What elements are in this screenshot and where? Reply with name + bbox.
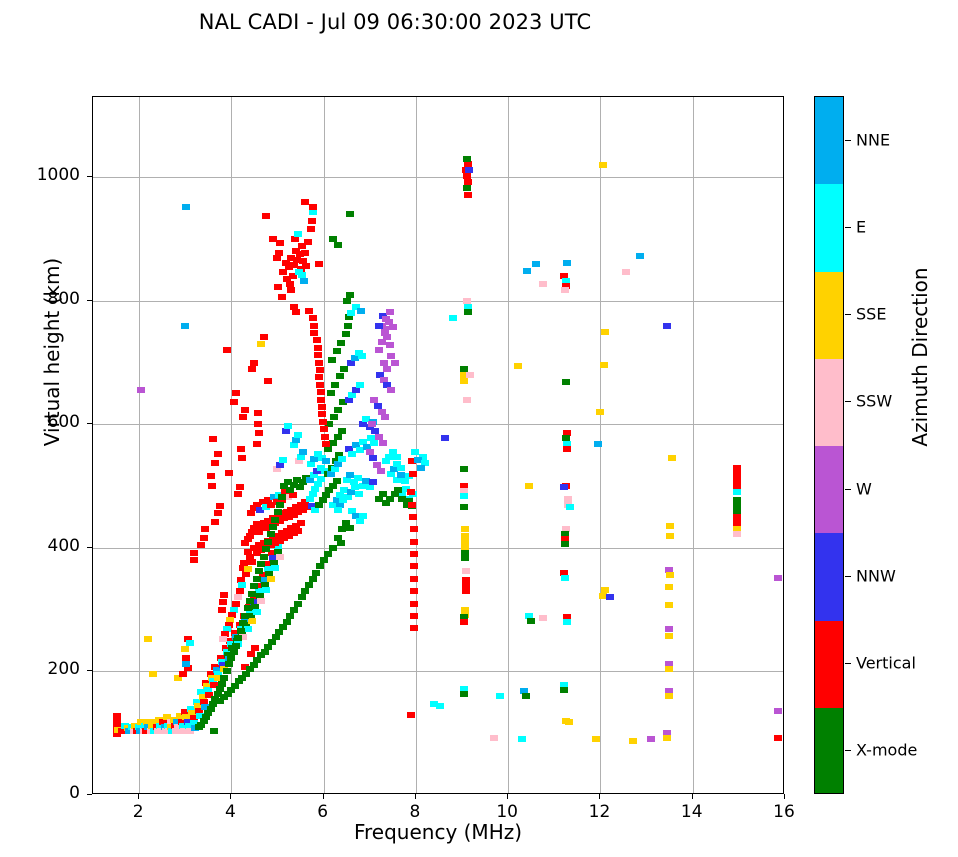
echo-marker [409,471,417,477]
echo-marker [300,278,308,284]
echo-marker [343,298,351,304]
echo-marker [239,414,247,420]
gridline-vertical [508,97,509,793]
echo-marker [386,496,394,502]
x-tick-label: 10 [477,802,537,822]
echo-marker [181,646,189,652]
echo-marker [200,535,208,541]
echo-marker [234,635,242,641]
echo-marker [315,360,323,366]
echo-marker [460,378,468,384]
x-axis-title: Frequency (MHz) [92,820,784,844]
x-tick-label: 6 [293,802,353,822]
echo-marker [380,360,388,366]
echo-marker [518,736,526,742]
colorbar-label-sse: SSE [856,305,886,324]
echo-marker [250,360,258,366]
colorbar-tick [845,750,851,751]
echo-marker [369,455,377,461]
echo-marker [449,315,457,321]
echo-marker [369,479,377,485]
gridline-horizontal [93,177,783,178]
echo-marker [393,454,401,460]
y-tick [87,794,92,795]
echo-marker [255,568,263,574]
echo-marker [322,458,330,464]
echo-marker [441,435,449,441]
colorbar[interactable] [814,96,844,794]
echo-marker [774,735,782,741]
echo-marker [182,661,190,667]
echo-marker [262,546,270,552]
echo-marker [354,475,362,481]
echo-marker [594,441,602,447]
echo-marker [225,661,233,667]
x-tick [507,794,508,799]
echo-marker [733,531,741,537]
echo-marker [267,576,275,582]
echo-marker [313,337,321,343]
colorbar-label-ssw: SSW [856,392,892,411]
echo-marker [465,167,473,173]
echo-marker [248,591,256,597]
echo-marker [398,496,406,502]
echo-marker [257,341,265,347]
echo-marker [560,687,568,693]
echo-marker [355,491,363,497]
echo-marker [647,736,655,742]
echo-marker [373,462,381,468]
echo-marker [382,316,390,322]
echo-marker [563,619,571,625]
echo-marker [665,602,673,608]
echo-marker [241,407,249,413]
ionogram-figure: NAL CADI - Jul 09 06:30:00 2023 UTC 2468… [0,0,958,857]
x-tick [230,794,231,799]
echo-marker [329,236,337,242]
echo-marker [596,409,604,415]
echo-marker [411,449,419,455]
plot-area[interactable] [92,96,784,794]
echo-marker [238,582,246,588]
echo-marker [328,357,336,363]
echo-marker [338,428,346,434]
echo-marker [255,430,263,436]
y-tick [87,300,92,301]
gridline-horizontal [93,424,783,425]
echo-marker [294,528,302,534]
echo-marker [301,250,309,256]
gridline-vertical [139,97,140,793]
echo-marker [294,601,302,607]
echo-marker [286,613,294,619]
echo-marker [317,397,325,403]
echo-marker [774,575,782,581]
echo-marker [294,231,302,237]
echo-marker [321,434,329,440]
echo-marker [539,281,547,287]
echo-marker [209,436,217,442]
echo-marker [246,598,254,604]
echo-marker [466,372,474,378]
colorbar-tick [845,401,851,402]
echo-marker [190,557,198,563]
echo-marker [218,607,226,613]
echo-marker [247,651,255,657]
echo-marker [241,613,249,619]
echo-marker [336,373,344,379]
echo-marker [733,477,741,483]
colorbar-segment-nnw[interactable] [815,533,843,620]
echo-marker [334,407,342,413]
echo-marker [223,347,231,353]
echo-marker [358,353,366,359]
colorbar-label-vertical: Vertical [856,654,916,673]
echo-marker [592,736,600,742]
echo-marker [562,379,570,385]
colorbar-label-x-mode: X-mode [856,741,917,760]
echo-marker [182,655,190,661]
x-tick-label: 2 [108,802,168,822]
echo-marker [464,309,472,315]
echo-marker [733,503,741,509]
echo-marker [337,540,345,546]
colorbar-label-nne: NNE [856,130,890,149]
gridline-vertical [416,97,417,793]
echo-marker [410,588,418,594]
echo-marker [190,550,198,556]
echo-marker [236,588,244,594]
echo-marker [309,204,317,210]
echo-marker [410,563,418,569]
echo-marker [284,423,292,429]
echo-marker [333,478,341,484]
echo-marker [237,446,245,452]
echo-marker [460,366,468,372]
echo-marker [410,551,418,557]
echo-marker [310,330,318,336]
colorbar-tick [845,663,851,664]
echo-marker [253,441,261,447]
y-tick [87,670,92,671]
echo-marker [287,287,295,293]
echo-marker [733,514,741,520]
echo-marker [309,576,317,582]
colorbar-tick [845,314,851,315]
echo-marker [274,284,282,290]
echo-marker [271,565,279,571]
x-tick [323,794,324,799]
echo-marker [334,507,342,513]
echo-marker [410,576,418,582]
echo-marker [248,366,256,372]
echo-marker [377,468,385,474]
echo-marker [257,561,265,567]
echo-marker [563,446,571,452]
echo-marker [629,738,637,744]
echo-marker [665,666,673,672]
echo-marker [320,557,328,563]
colorbar-tick [845,576,851,577]
echo-marker [407,712,415,718]
echo-marker [234,491,242,497]
echo-marker [260,334,268,340]
echo-marker [359,513,367,519]
echo-marker [318,411,326,417]
echo-marker [214,451,222,457]
echo-marker [299,449,307,455]
colorbar-segment-nne[interactable] [815,97,843,184]
echo-marker [490,735,498,741]
echo-marker [254,421,262,427]
echo-marker [320,426,328,432]
echo-marker [561,287,569,293]
echo-marker [370,440,378,446]
echo-marker [463,156,471,162]
echo-marker [665,633,673,639]
echo-marker [410,539,418,545]
echo-marker [182,204,190,210]
echo-marker [389,324,397,330]
echo-marker [381,414,389,420]
echo-marker [668,455,676,461]
echo-marker [460,504,468,510]
colorbar-segment-sse[interactable] [815,272,843,359]
echo-marker [197,542,205,548]
echo-marker [375,434,383,440]
echo-marker [436,703,444,709]
echo-marker [312,570,320,576]
echo-marker [244,626,252,632]
echo-marker [460,619,468,625]
echo-marker [253,576,261,582]
echo-marker [274,509,282,515]
echo-marker [298,272,306,278]
echo-marker [391,360,399,366]
echo-marker [239,620,247,626]
echo-marker [315,374,323,380]
y-tick-label: 0 [18,783,80,803]
echo-marker [357,308,365,314]
echo-marker [278,494,286,500]
echo-marker [410,613,418,619]
echo-marker [302,263,310,269]
echo-marker [370,397,378,403]
echo-marker [314,352,322,358]
echo-marker [271,517,279,523]
echo-marker [227,655,235,661]
echo-marker [344,323,352,329]
echo-marker [201,526,209,532]
echo-marker [301,588,309,594]
echo-marker [346,525,354,531]
echo-marker [408,502,416,508]
colorbar-tick [845,489,851,490]
echo-marker [305,308,313,314]
echo-marker [375,347,383,353]
echo-marker [264,378,272,384]
echo-marker [301,199,309,205]
echo-marker [464,179,472,185]
echo-marker [666,533,674,539]
echo-marker [665,693,673,699]
echo-marker [220,675,228,681]
echo-marker [262,587,270,593]
echo-marker [462,588,470,594]
echo-marker [236,484,244,490]
colorbar-title: Azimuth Direction [908,227,932,487]
echo-marker [599,162,607,168]
echo-marker [262,213,270,219]
echo-marker [250,583,258,589]
echo-marker [315,261,323,267]
echo-marker [181,323,189,329]
y-tick [87,547,92,548]
echo-marker [324,551,332,557]
y-tick [87,423,92,424]
x-tick [138,794,139,799]
echo-marker [532,261,540,267]
echo-marker [601,329,609,335]
echo-marker [211,519,219,525]
colorbar-tick [845,140,851,141]
echo-marker [244,605,252,611]
echo-marker [666,523,674,529]
echo-marker [290,304,298,310]
echo-marker [327,390,335,396]
echo-marker [279,457,287,463]
echo-marker [304,239,312,245]
echo-marker [223,668,231,674]
colorbar-segment-w[interactable] [815,446,843,533]
echo-marker [137,387,145,393]
echo-marker [525,483,533,489]
echo-marker [310,323,318,329]
echo-marker [232,601,240,607]
echo-marker [562,435,570,441]
page-title: NAL CADI - Jul 09 06:30:00 2023 UTC [0,10,790,34]
echo-marker [563,260,571,266]
echo-marker [663,323,671,329]
x-tick [599,794,600,799]
echo-marker [238,455,246,461]
echo-marker [290,607,298,613]
echo-marker [248,559,256,565]
echo-marker [460,691,468,697]
colorbar-segment-x-mode[interactable] [815,708,843,794]
echo-marker [368,421,376,427]
echo-marker [409,514,417,520]
echo-marker [254,410,262,416]
echo-marker [333,348,341,354]
data-canvas [93,97,783,793]
echo-marker [309,315,317,321]
x-tick-label: 16 [754,802,814,822]
echo-marker [560,484,568,490]
echo-marker [230,649,238,655]
echo-marker [665,626,673,632]
y-tick-label: 200 [18,659,80,679]
x-tick-label: 8 [385,802,445,822]
echo-marker [733,483,741,489]
echo-marker [216,698,224,704]
echo-marker [244,566,252,572]
colorbar-segment-ssw[interactable] [815,359,843,446]
echo-marker [622,269,630,275]
echo-marker [297,520,305,526]
echo-marker [322,441,330,447]
echo-marker [216,503,224,509]
echo-marker [113,713,121,719]
echo-marker [464,192,472,198]
echo-marker [273,255,281,261]
echo-marker [276,554,284,560]
echo-marker [334,434,342,440]
echo-marker [561,541,569,547]
y-axis-title: Virtual height (km) [40,222,64,482]
y-tick [87,176,92,177]
echo-marker [523,268,531,274]
echo-marker [317,389,325,395]
echo-marker [214,510,222,516]
echo-marker [410,601,418,607]
echo-marker [606,594,614,600]
echo-marker [461,533,469,539]
gridline-horizontal [93,301,783,302]
echo-marker [210,728,218,734]
echo-marker [253,609,261,615]
echo-marker [564,496,572,502]
x-tick-label: 4 [200,802,260,822]
echo-marker [257,598,265,604]
echo-marker [417,465,425,471]
echo-marker [394,487,402,493]
echo-marker [186,640,194,646]
colorbar-label-e: E [856,217,866,236]
colorbar-tick [845,227,851,228]
echo-marker [316,382,324,388]
echo-marker [371,428,379,434]
colorbar-segment-e[interactable] [815,184,843,271]
echo-marker [366,449,374,455]
echo-marker [347,310,355,316]
echo-marker [463,173,471,179]
x-tick-label: 14 [662,802,722,822]
x-tick [415,794,416,799]
echo-marker [462,568,470,574]
echo-marker [383,366,391,372]
echo-marker [383,334,391,340]
echo-marker [269,524,277,530]
echo-marker [463,298,471,304]
echo-marker [314,345,322,351]
echo-marker [397,465,405,471]
echo-marker [463,397,471,403]
colorbar-segment-vertical[interactable] [815,621,843,708]
echo-marker [316,563,324,569]
echo-marker [460,466,468,472]
echo-marker [346,211,354,217]
echo-marker [318,404,326,410]
echo-marker [460,493,468,499]
echo-marker [232,390,240,396]
y-tick-label: 1000 [18,165,80,185]
echo-marker [338,456,346,462]
echo-marker [340,366,348,372]
echo-marker [207,473,215,479]
echo-marker [636,253,644,259]
echo-marker [330,414,338,420]
